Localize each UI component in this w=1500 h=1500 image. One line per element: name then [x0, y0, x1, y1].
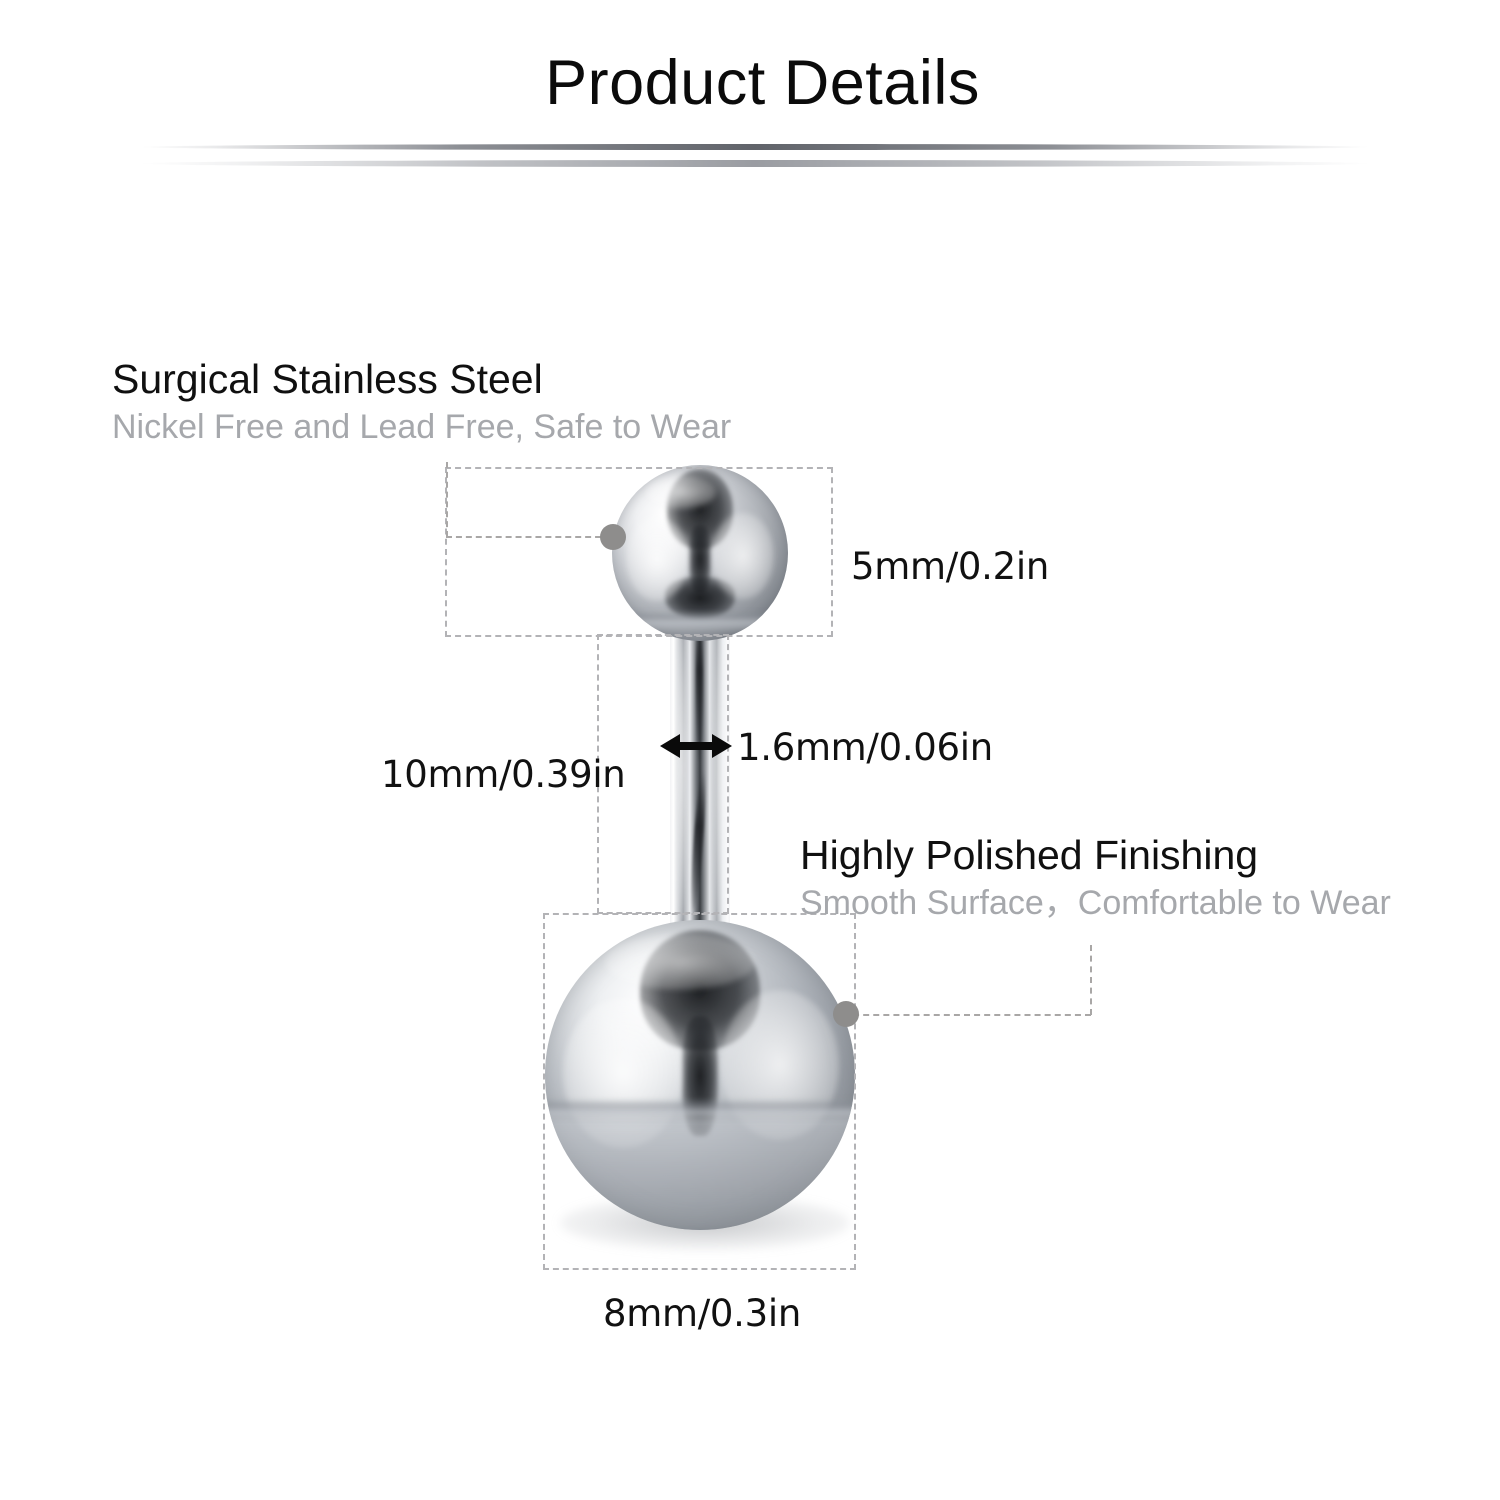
leader-endpoint-dot-steel	[600, 524, 626, 550]
dimension-label-top-ball-diameter: 5mm/0.2in	[851, 545, 1049, 588]
leader-line-steel-horizontal	[446, 536, 611, 538]
callout-surgical-stainless-steel: Surgical Stainless Steel Nickel Free and…	[112, 357, 731, 448]
leader-line-steel-vertical	[446, 462, 448, 537]
product-details-infographic: Product Details	[0, 0, 1500, 1500]
dimension-label-bottom-ball-diameter: 8mm/0.3in	[0, 1292, 1404, 1335]
dimension-label-bar-gauge: 1.6mm/0.06in	[737, 726, 993, 769]
double-headed-arrow-icon	[660, 730, 732, 762]
leader-line-polish-vertical	[1090, 945, 1092, 1015]
measurement-bracket-bottom-ball	[543, 913, 856, 1270]
callout-title: Surgical Stainless Steel	[112, 357, 731, 401]
leader-endpoint-dot-polish	[833, 1001, 859, 1027]
measurement-bracket-top-ball	[445, 467, 833, 637]
leader-line-polish-horizontal	[843, 1014, 1091, 1016]
callout-title: Highly Polished Finishing	[800, 833, 1391, 877]
callout-subtitle: Smooth Surface，Comfortable to Wear	[800, 883, 1391, 924]
dimension-label-bar-length: 10mm/0.39in	[381, 753, 625, 796]
callout-subtitle: Nickel Free and Lead Free, Safe to Wear	[112, 407, 731, 448]
callout-highly-polished-finishing: Highly Polished Finishing Smooth Surface…	[800, 833, 1391, 924]
